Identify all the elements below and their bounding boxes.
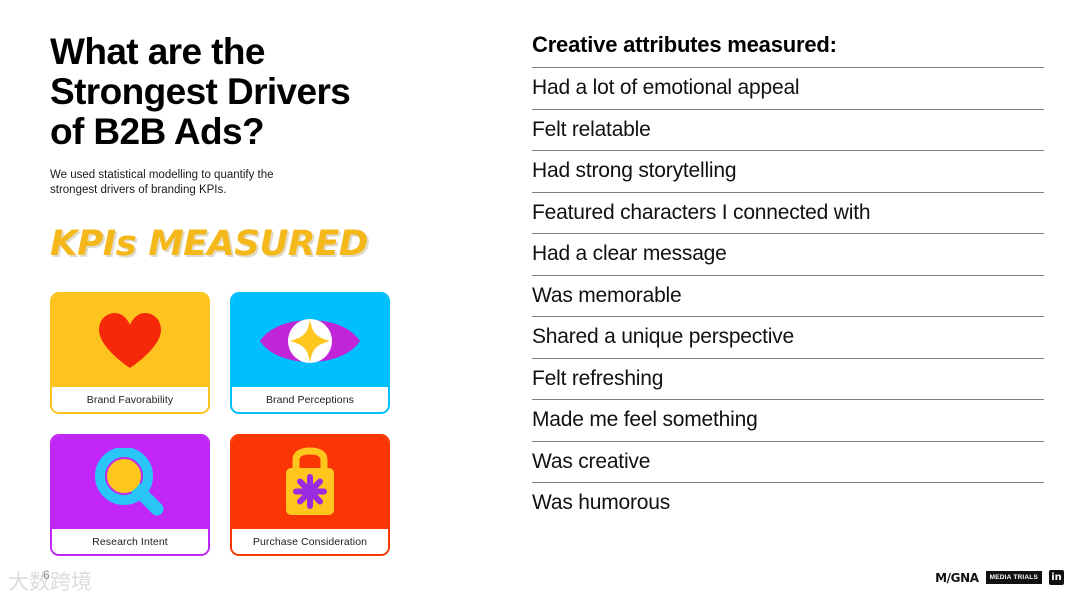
kpi-card-label: Purchase Consideration <box>232 529 388 554</box>
kpi-card-label: Brand Favorability <box>52 387 208 412</box>
list-item: Was humorous <box>532 482 1044 524</box>
kpi-card-purchase-consideration[interactable]: Purchase Consideration <box>230 434 390 556</box>
slide-subtitle: We used statistical modelling to quantif… <box>50 168 360 198</box>
kpi-card-artwork <box>52 294 208 387</box>
left-column: What are the Strongest Drivers of B2B Ad… <box>50 32 470 264</box>
kpi-card-label: Brand Perceptions <box>232 387 388 412</box>
attributes-heading: Creative attributes measured: <box>532 32 1044 67</box>
kpi-card-grid: Brand Favorability Brand Perceptions Res… <box>50 292 390 556</box>
list-item: Featured characters I connected with <box>532 192 1044 234</box>
linkedin-icon[interactable]: in <box>1049 570 1064 585</box>
magnifier-icon <box>93 448 167 518</box>
shopping-bag-icon <box>274 447 346 519</box>
list-item: Had a lot of emotional appeal <box>532 67 1044 109</box>
heart-icon <box>97 312 163 370</box>
kpi-card-brand-favorability[interactable]: Brand Favorability <box>50 292 210 414</box>
kpi-card-label: Research Intent <box>52 529 208 554</box>
list-item: Shared a unique perspective <box>532 316 1044 358</box>
page-title: What are the Strongest Drivers of B2B Ad… <box>50 32 470 152</box>
list-item: Was memorable <box>532 275 1044 317</box>
list-item: Felt refreshing <box>532 358 1044 400</box>
media-trials-logo: MEDIA TRIALS <box>986 571 1042 584</box>
page-number: 6 <box>43 568 50 582</box>
eye-sparkle-icon <box>258 311 362 371</box>
creative-attributes-panel: Creative attributes measured: Had a lot … <box>532 32 1044 524</box>
list-item: Was creative <box>532 441 1044 483</box>
kpi-card-research-intent[interactable]: Research Intent <box>50 434 210 556</box>
list-item: Felt relatable <box>532 109 1044 151</box>
kpi-card-artwork <box>52 436 208 529</box>
footer-logos: M/GNA MEDIA TRIALS in <box>935 570 1064 585</box>
kpis-measured-heading: KPIs MEASURED <box>50 224 478 264</box>
list-item: Had strong storytelling <box>532 150 1044 192</box>
kpi-card-artwork <box>232 436 388 529</box>
kpi-card-brand-perceptions[interactable]: Brand Perceptions <box>230 292 390 414</box>
list-item: Had a clear message <box>532 233 1044 275</box>
magna-logo: M/GNA <box>935 571 979 585</box>
watermark-logo: 大数跨境 <box>8 566 92 596</box>
kpi-card-artwork <box>232 294 388 387</box>
list-item: Made me feel something <box>532 399 1044 441</box>
